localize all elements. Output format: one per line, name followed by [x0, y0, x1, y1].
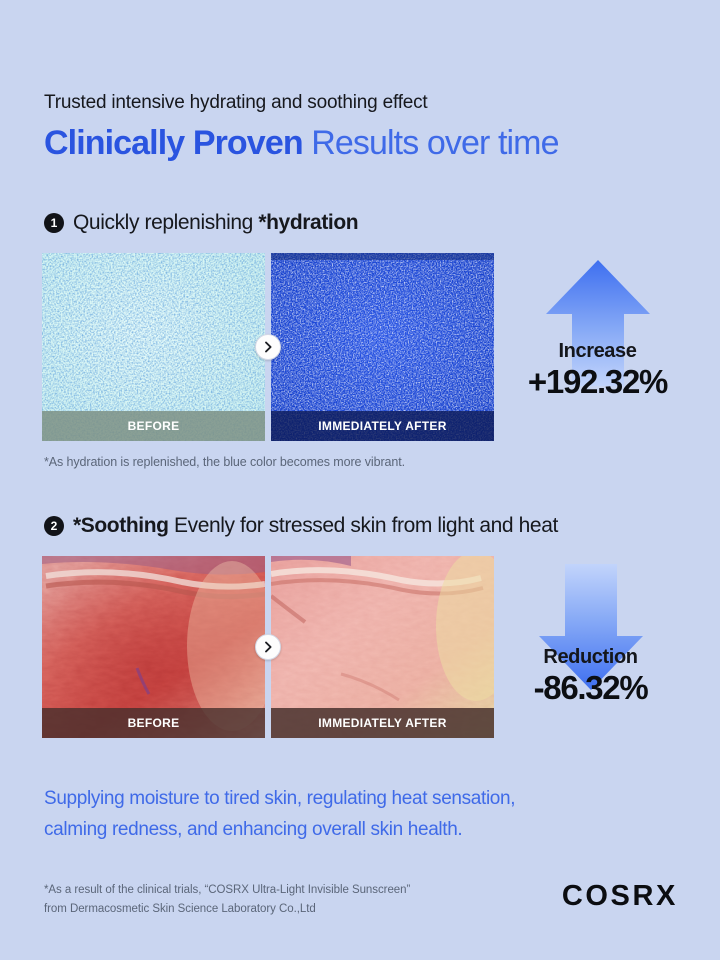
headline-rest: Results over time [303, 124, 559, 162]
promo-page: Trusted intensive hydrating and soothing… [0, 0, 720, 960]
hydration-footnote: *As hydration is replenished, the blue c… [44, 455, 405, 469]
hydration-comparison: BEFORE IMMEDIATELY AFTER [42, 253, 494, 441]
increase-value: +192.32% [490, 365, 705, 400]
section-2-title-bold: *Soothing [73, 514, 169, 537]
disclaimer-line-1: *As a result of the clinical trials, “CO… [44, 881, 410, 900]
section-1-title: Quickly replenishing *hydration [73, 211, 358, 235]
section-1-heading: 1 Quickly replenishing *hydration [44, 211, 358, 235]
section-2-title-plain: Evenly for stressed skin from light and … [169, 514, 558, 537]
hydration-before-label: BEFORE [42, 411, 265, 441]
disclaimer-line-2: from Dermacosmetic Skin Science Laborato… [44, 900, 410, 919]
chevron-right-icon-2[interactable] [255, 634, 281, 660]
soothing-stat: Reduction -86.32% [483, 560, 698, 706]
hydration-before-image: BEFORE [42, 253, 265, 441]
section-2-title: *Soothing Evenly for stressed skin from … [73, 514, 558, 538]
hydration-stat: Increase +192.32% [490, 258, 705, 400]
summary-text: Supplying moisture to tired skin, regula… [44, 784, 515, 846]
reduction-value: -86.32% [483, 671, 698, 706]
page-title: Clinically Proven Results over time [44, 124, 559, 162]
summary-line-2: calming redness, and enhancing overall s… [44, 815, 515, 846]
section-2-heading: 2 *Soothing Evenly for stressed skin fro… [44, 514, 558, 538]
kicker-text: Trusted intensive hydrating and soothing… [44, 92, 559, 115]
increase-label: Increase [490, 340, 705, 363]
brand-logo: COSRX [562, 882, 678, 911]
header: Trusted intensive hydrating and soothing… [44, 92, 559, 162]
hydration-after-image: IMMEDIATELY AFTER [271, 253, 494, 441]
section-2-number-badge: 2 [44, 516, 64, 536]
chevron-right-glyph [263, 341, 273, 353]
soothing-before-label: BEFORE [42, 708, 265, 738]
section-1-number-badge: 1 [44, 213, 64, 233]
summary-line-1: Supplying moisture to tired skin, regula… [44, 784, 515, 815]
section-1-title-bold: *hydration [258, 211, 358, 234]
soothing-after-image: IMMEDIATELY AFTER [271, 556, 494, 738]
headline-emphasis: Clinically Proven [44, 124, 303, 162]
reduction-label: Reduction [483, 646, 698, 669]
hydration-after-label: IMMEDIATELY AFTER [271, 411, 494, 441]
chevron-right-icon[interactable] [255, 334, 281, 360]
soothing-before-image: BEFORE [42, 556, 265, 738]
disclaimer-text: *As a result of the clinical trials, “CO… [44, 881, 410, 918]
section-1-title-plain: Quickly replenishing [73, 211, 258, 234]
soothing-comparison: BEFORE [42, 556, 494, 738]
soothing-after-label: IMMEDIATELY AFTER [271, 708, 494, 738]
chevron-right-glyph-2 [263, 641, 273, 653]
